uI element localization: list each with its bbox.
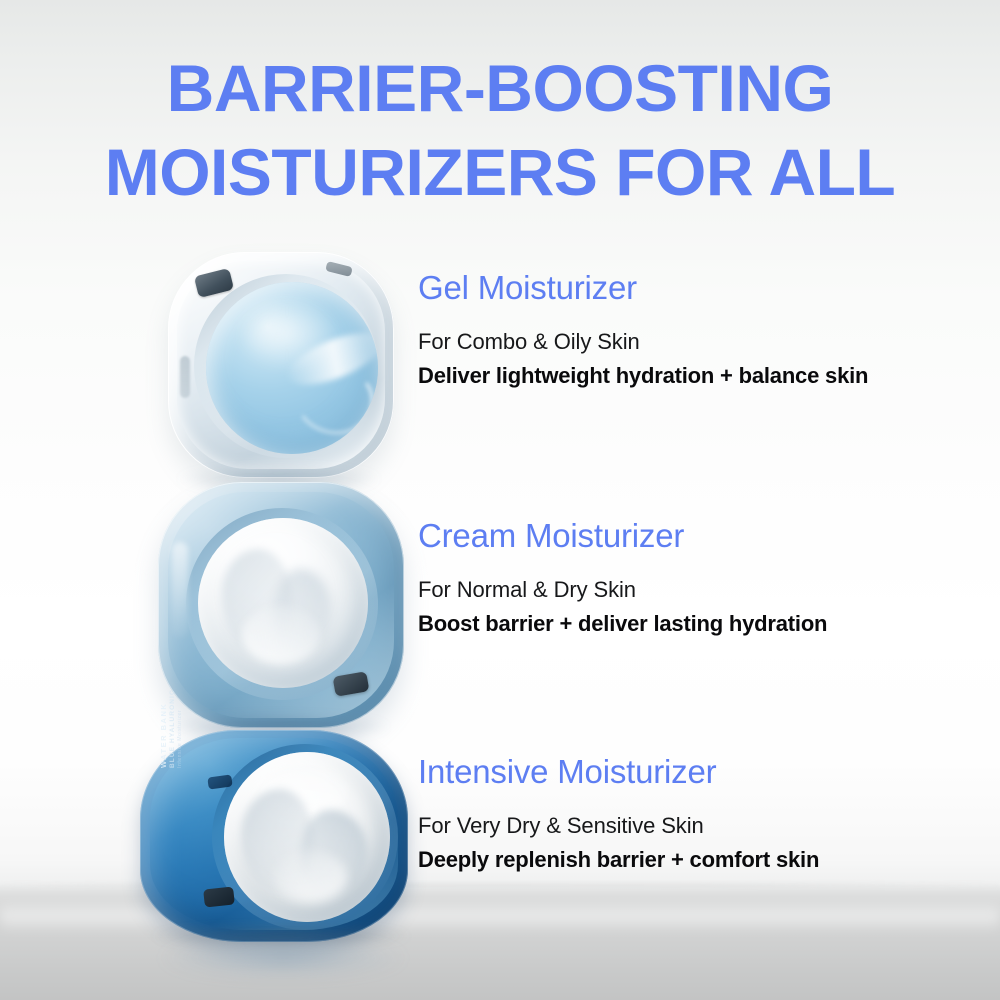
surface-sheen <box>0 902 1000 932</box>
jar-side-notch <box>180 356 190 398</box>
product-skin-type: For Normal & Dry Skin <box>418 575 958 605</box>
jar-content-intensive <box>224 752 390 922</box>
headline-line-1: BARRIER-BOOSTING <box>0 46 1000 130</box>
product-info-cream-moisturizer: Cream Moisturizer For Normal & Dry Skin … <box>418 516 958 639</box>
product-info-intensive-moisturizer: Intensive Moisturizer For Very Dry & Sen… <box>418 752 958 875</box>
jar-left-highlight <box>172 542 188 638</box>
product-jar-gel-moisturizer <box>168 252 394 478</box>
cream-swirl-d <box>274 851 347 902</box>
product-name: Gel Moisturizer <box>418 268 958 308</box>
jar-hinge-clip <box>203 886 235 907</box>
product-benefit: Deliver lightweight hydration + balance … <box>418 360 938 391</box>
product-marketing-banner: BARRIER-BOOSTING MOISTURIZERS FOR ALL <box>0 0 1000 1000</box>
product-jar-cream-moisturizer <box>158 482 404 728</box>
product-benefit: Boost barrier + deliver lasting hydratio… <box>418 608 938 639</box>
jar-surface-reflection <box>158 936 408 980</box>
product-skin-type: For Very Dry & Sensitive Skin <box>418 811 958 841</box>
product-info-gel-moisturizer: Gel Moisturizer For Combo & Oily Skin De… <box>418 268 958 391</box>
product-name: Cream Moisturizer <box>418 516 958 556</box>
jar-content-gel <box>206 282 378 454</box>
jar-content-cream <box>198 518 368 688</box>
product-benefit: Deeply replenish barrier + comfort skin <box>418 844 938 875</box>
product-jar-intensive-moisturizer <box>140 730 408 942</box>
page-title: BARRIER-BOOSTING MOISTURIZERS FOR ALL <box>0 46 1000 214</box>
product-skin-type: For Combo & Oily Skin <box>418 327 958 357</box>
product-name: Intensive Moisturizer <box>418 752 958 792</box>
headline-line-2: MOISTURIZERS FOR ALL <box>0 130 1000 214</box>
